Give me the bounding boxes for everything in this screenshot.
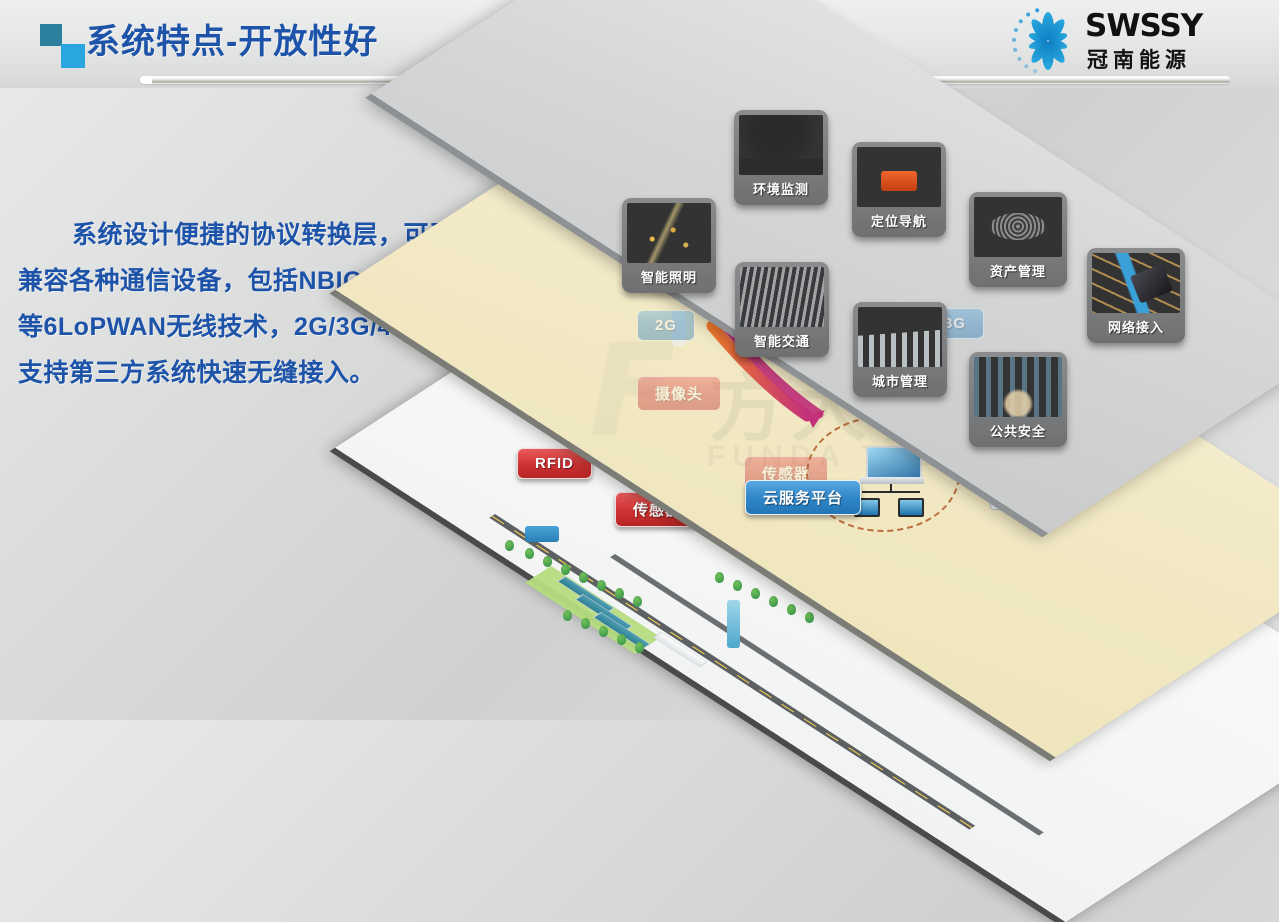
safety-thumb-icon: [974, 357, 1062, 417]
square-light-icon: [61, 44, 85, 68]
iot-architecture-diagram: RFID 传感器 RFID 摄像头 RFID F 方大智元 FUNDA TECH…: [455, 92, 1279, 720]
water-droplet-logo-icon: [1011, 6, 1081, 76]
laptop-base-icon: [860, 477, 924, 484]
city-tree-29: [635, 642, 644, 653]
city-tree-8: [715, 572, 724, 583]
card-smart-transport[interactable]: 智能交通: [735, 262, 829, 357]
card-label: 定位导航: [857, 207, 941, 235]
city-tree-28: [617, 634, 626, 645]
city-tree-4: [579, 572, 588, 583]
badge-cloud-platform[interactable]: 云服务平台: [745, 480, 861, 515]
city-tree-10: [751, 588, 760, 599]
environment-thumb-icon: [739, 115, 823, 175]
slide-root: 系统特点-开放性好 SWSSY 冠南能源 系统设计便捷的协议转换层，可无缝 兼容…: [0, 0, 1279, 720]
card-smart-lighting[interactable]: 智能照明: [622, 198, 716, 293]
laptop-screen-icon: [866, 446, 922, 480]
city-tree-9: [733, 580, 742, 591]
server-wire-h: [862, 491, 920, 493]
company-logo: SWSSY 冠南能源: [1011, 4, 1271, 78]
city-tree-25: [563, 610, 572, 621]
cloud-server-icon: [852, 446, 930, 520]
card-public-safety[interactable]: 公共安全: [969, 352, 1067, 447]
server-node-2: [898, 498, 924, 517]
badge-2g: 2G: [637, 310, 695, 341]
city-tree-7: [633, 596, 642, 607]
city-tree-27: [599, 626, 608, 637]
card-city-management[interactable]: 城市管理: [853, 302, 947, 397]
logo-dot-icon: [1018, 18, 1024, 24]
city-tree-5: [597, 580, 606, 591]
asset-thumb-icon: [974, 197, 1062, 257]
logo-dot-icon: [1013, 27, 1018, 32]
city-tree-11: [769, 596, 778, 607]
card-label: 智能照明: [627, 263, 711, 291]
page-title: 系统特点-开放性好: [86, 14, 378, 63]
logo-dot-icon: [1012, 38, 1016, 42]
card-label: 环境监测: [739, 175, 823, 203]
logo-dot-icon: [1032, 69, 1037, 74]
logo-dot-icon: [1023, 63, 1029, 69]
card-label: 智能交通: [740, 327, 824, 355]
logo-dot-icon: [1013, 47, 1018, 52]
square-dark-icon: [40, 24, 62, 46]
city-tree-13: [805, 612, 814, 623]
card-positioning-navigation[interactable]: 定位导航: [852, 142, 946, 237]
logo-dot-icon: [1035, 8, 1040, 13]
city-tree-3: [561, 564, 570, 575]
card-label: 公共安全: [974, 417, 1062, 445]
traffic-thumb-icon: [740, 267, 824, 327]
card-network-access[interactable]: 网络接入: [1087, 248, 1185, 343]
card-label: 城市管理: [858, 367, 942, 395]
logo-subtitle: 冠南能源: [1087, 44, 1191, 74]
city-tree-12: [787, 604, 796, 615]
city-tree-1: [525, 548, 534, 559]
card-label: 资产管理: [974, 257, 1062, 285]
smart-lighting-thumb-icon: [627, 203, 711, 263]
city-tree-2: [543, 556, 552, 567]
application-layer: 2G 3G 智能照明 环境监测 智能交通 定位导航 城市管理: [489, 102, 1249, 392]
navigation-thumb-icon: [857, 147, 941, 207]
city-thumb-icon: [858, 307, 942, 367]
logo-dot-icon: [1017, 56, 1023, 62]
logo-dot-icon: [1025, 12, 1031, 18]
card-label: 网络接入: [1092, 313, 1180, 341]
city-tree-6: [615, 588, 624, 599]
city-tree-26: [581, 618, 590, 629]
card-asset-management[interactable]: 资产管理: [969, 192, 1067, 287]
network-access-thumb-icon: [1092, 253, 1180, 313]
card-environment-monitoring[interactable]: 环境监测: [734, 110, 828, 205]
city-tower-left: [727, 600, 740, 648]
logo-wordmark: SWSSY: [1085, 8, 1202, 44]
